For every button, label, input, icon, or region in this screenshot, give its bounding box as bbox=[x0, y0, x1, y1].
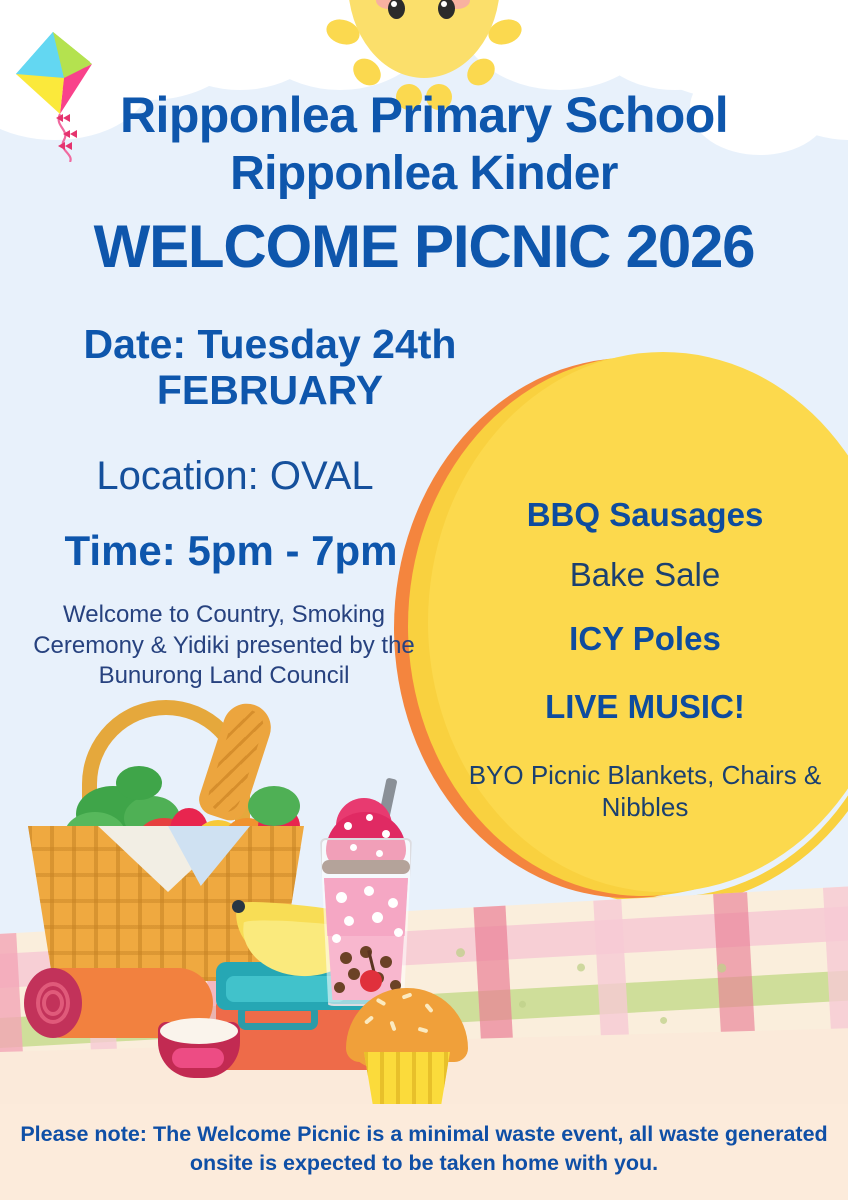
school-name-line1: Ripponlea Primary School bbox=[0, 88, 848, 142]
waste-note: Please note: The Welcome Picnic is a min… bbox=[10, 1120, 838, 1178]
menu-list: BBQ Sausages Bake Sale ICY Poles LIVE MU… bbox=[460, 492, 830, 823]
menu-item-bake: Bake Sale bbox=[460, 556, 830, 594]
menu-item-icy: ICY Poles bbox=[460, 620, 830, 658]
page-title: WELCOME PICNIC 2026 bbox=[0, 215, 848, 280]
event-location: Location: OVAL bbox=[10, 455, 460, 498]
picnic-still-life bbox=[20, 700, 450, 1080]
menu-item-bbq: BBQ Sausages bbox=[460, 496, 830, 534]
acknowledgement-text: Welcome to Country, Smoking Ceremony & Y… bbox=[14, 600, 434, 692]
event-time: Time: 5pm - 7pm bbox=[6, 528, 456, 573]
event-date: Date: Tuesday 24th FEBRUARY bbox=[10, 322, 530, 414]
school-name-line2: Ripponlea Kinder bbox=[0, 148, 848, 200]
poster-canvas: Ripponlea Primary School Ripponlea Kinde… bbox=[0, 0, 848, 1200]
byo-text: BYO Picnic Blankets, Chairs & Nibbles bbox=[460, 760, 830, 823]
menu-item-music: LIVE MUSIC! bbox=[460, 688, 830, 726]
